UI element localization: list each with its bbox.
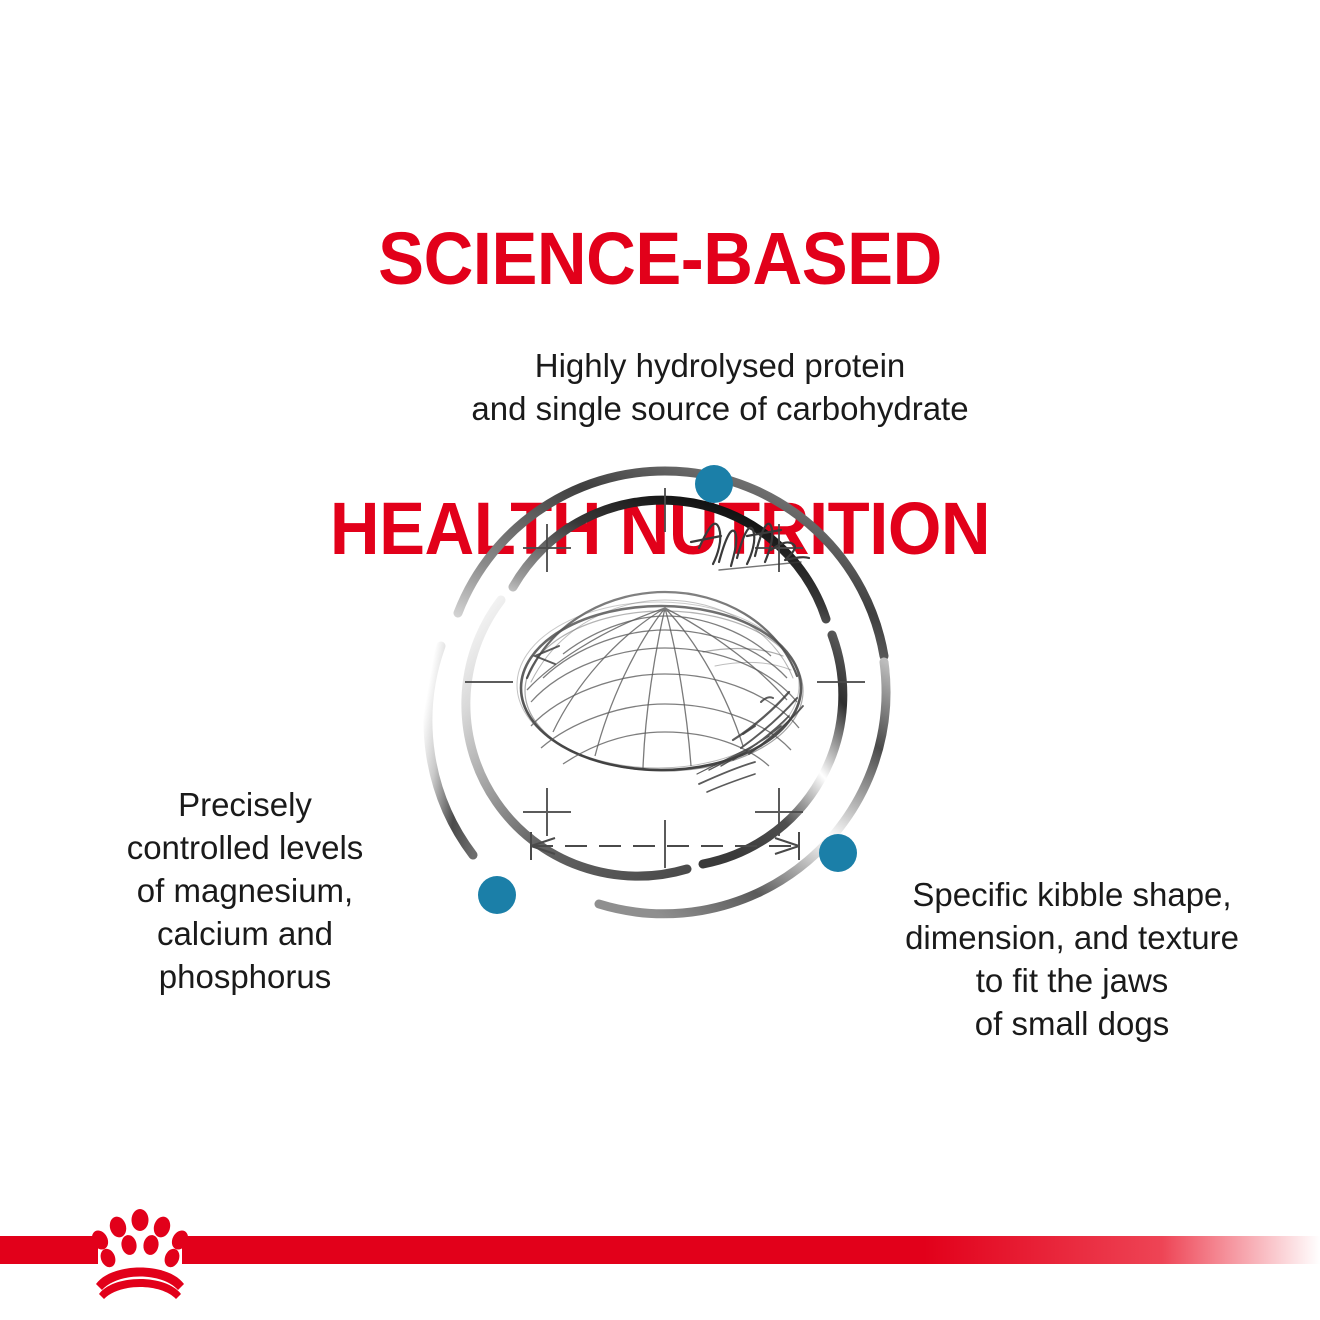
callout-right-text: Specific kibble shape, dimension, and te…: [862, 873, 1282, 1045]
infographic-page: SCIENCE-BASED HEALTH NUTRITION Highly hy…: [0, 0, 1320, 1320]
teal-dot-right: [819, 834, 857, 872]
callout-top-text: Highly hydrolysed protein and single sou…: [360, 344, 1080, 430]
callout-left-text: Precisely controlled levels of magnesium…: [80, 783, 410, 998]
kibble-shading-hatch: [697, 649, 803, 792]
kibble-sketch-illustration: [465, 488, 865, 868]
teal-dot-bottom-left: [478, 876, 516, 914]
inner-arc-right: [703, 635, 843, 864]
brand-footer: [0, 1200, 1320, 1320]
inner-arc-left: [466, 600, 687, 876]
handwritten-annotation: [691, 524, 809, 570]
page-title-line-1: SCIENCE-BASED: [46, 214, 1274, 304]
sketch-flicks: [535, 646, 773, 734]
kibble-diagram: [403, 440, 923, 960]
kibble-body: [517, 592, 803, 771]
inner-ring-arcs: [466, 500, 843, 876]
brand-bar: [0, 1236, 1320, 1264]
technical-crosshair-marks: [465, 488, 865, 868]
teal-dot-top: [695, 465, 733, 503]
outer-ring-arcs: [428, 471, 886, 914]
